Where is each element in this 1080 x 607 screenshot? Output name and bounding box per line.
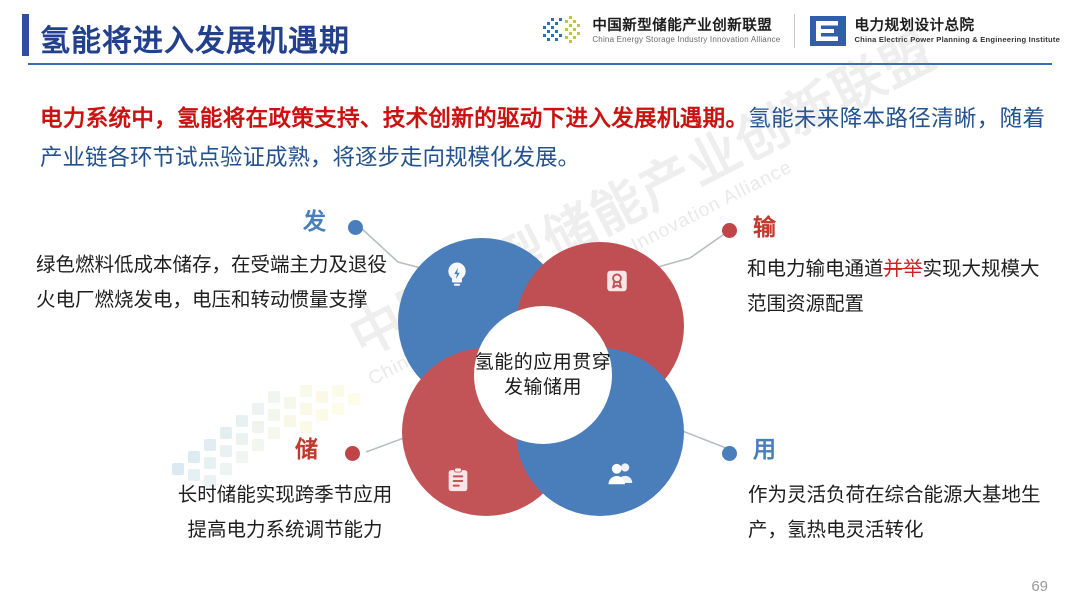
- node-text-chu: 长时储能实现跨季节应用 提高电力系统调节能力: [135, 478, 435, 547]
- node-text-shu-before: 和电力输电通道: [747, 258, 884, 280]
- slide-root: 氢能将进入发展机遇期: [0, 0, 1080, 607]
- hub-label: 氢能的应用贯穿发输储用: [474, 350, 612, 401]
- logo-energy-storage-alliance: 中国新型储能产业创新联盟 China Energy Storage Indust…: [541, 14, 780, 48]
- bulb-bolt-icon: [442, 260, 472, 290]
- epi-square-logo-mark: [809, 14, 847, 48]
- node-key-yong: 用: [753, 430, 777, 464]
- logo-epi: 电力规划设计总院 China Electric Power Planning &…: [809, 14, 1060, 48]
- node-key-shu: 输: [753, 208, 777, 242]
- node-dot-yong: [722, 446, 737, 461]
- node-text-shu: 和电力输电通道并举实现大规模大范围资源配置: [747, 252, 1047, 321]
- diagram-hub: 氢能的应用贯穿发输储用: [474, 306, 612, 444]
- title-accent-bar: [22, 14, 29, 56]
- logo-separator: [794, 14, 795, 48]
- page-title: 氢能将进入发展机遇期: [40, 16, 350, 60]
- clipboard-lines-icon: [444, 466, 472, 494]
- page-number: 69: [1031, 578, 1048, 595]
- decorative-dot-pattern: [170, 385, 385, 490]
- node-dot-shu: [722, 223, 737, 238]
- node-text-yong: 作为灵活负荷在综合能源大基地生产，氢热电灵活转化: [748, 478, 1048, 547]
- title-divider: [28, 63, 1052, 65]
- lead-emphasis: 电力系统中，氢能将在政策支持、技术创新的驱动下进入发展机遇期。: [40, 106, 748, 131]
- logo-group: 中国新型储能产业创新联盟 China Energy Storage Indust…: [541, 14, 1060, 48]
- node-text-chu-line2: 提高电力系统调节能力: [135, 513, 435, 548]
- node-text-chu-line1: 长时储能实现跨季节应用: [135, 478, 435, 513]
- logo-alliance-name-cn: 中国新型储能产业创新联盟: [592, 18, 780, 35]
- node-dot-fa: [348, 220, 363, 235]
- logo-epi-name-en: China Electric Power Planning & Engineer…: [854, 35, 1060, 44]
- node-key-fa: 发: [303, 202, 327, 236]
- node-key-chu: 储: [295, 430, 319, 464]
- node-text-shu-highlight: 并举: [884, 258, 923, 280]
- dots-diamond-logo-mark: [541, 14, 585, 48]
- logo-epi-name-cn: 电力规划设计总院: [854, 18, 1060, 35]
- badge-clipboard-icon: [604, 268, 630, 294]
- logo-alliance-name-en: China Energy Storage Industry Innovation…: [592, 35, 780, 44]
- lead-paragraph: 电力系统中，氢能将在政策支持、技术创新的驱动下进入发展机遇期。氢能未来降本路径清…: [40, 100, 1045, 177]
- hydrogen-application-diagram: 氢能的应用贯穿发输储用: [398, 238, 688, 518]
- node-text-fa: 绿色燃料低成本储存，在受端主力及退役火电厂燃烧发电，电压和转动惯量支撑: [36, 248, 388, 317]
- users-icon: [606, 458, 636, 488]
- node-dot-chu: [345, 446, 360, 461]
